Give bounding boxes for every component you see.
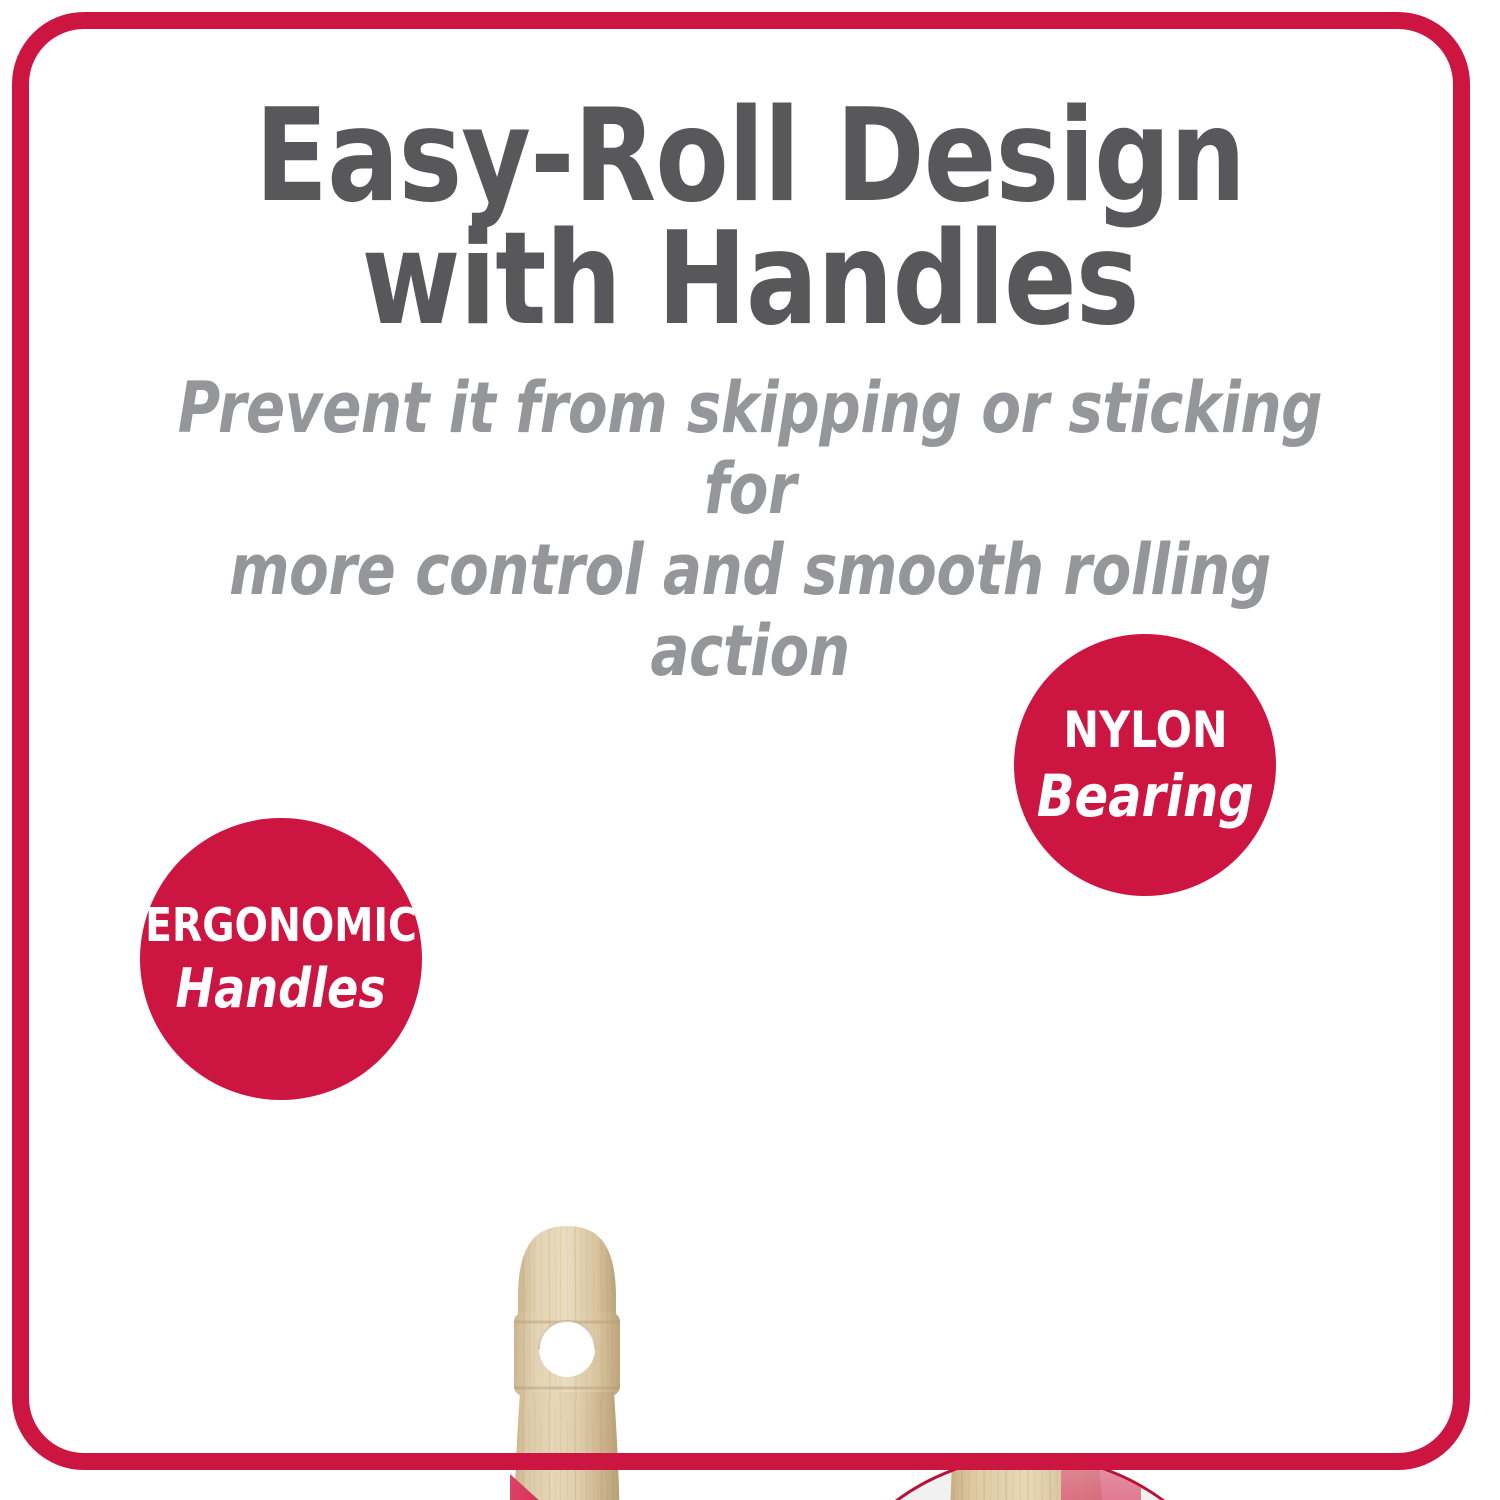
badge-ergonomic-subtitle: Handles xyxy=(176,962,386,1016)
badge-nylon-subtitle: Bearing xyxy=(1036,767,1253,825)
pin-handle xyxy=(514,1226,620,1500)
page-subtitle: Prevent it from skipping or sticking for… xyxy=(60,368,1440,693)
badge-ergonomic-title: ERGONOMIC xyxy=(145,902,417,948)
badge-nylon: NYLON Bearing xyxy=(1014,634,1276,896)
ergonomic-arrow-icon xyxy=(398,1472,608,1500)
heading-block: Easy-Roll Design with Handles Prevent it… xyxy=(0,96,1500,693)
badge-ergonomic: ERGONOMIC Handles xyxy=(140,818,422,1100)
product-feature-infographic: Easy-Roll Design with Handles Prevent it… xyxy=(0,0,1500,1500)
page-title: Easy-Roll Design with Handles xyxy=(53,96,1448,342)
magnified-detail-inset xyxy=(805,1455,1255,1500)
badge-nylon-title: NYLON xyxy=(1063,705,1227,755)
inset-bearing-detail xyxy=(805,1455,1255,1500)
